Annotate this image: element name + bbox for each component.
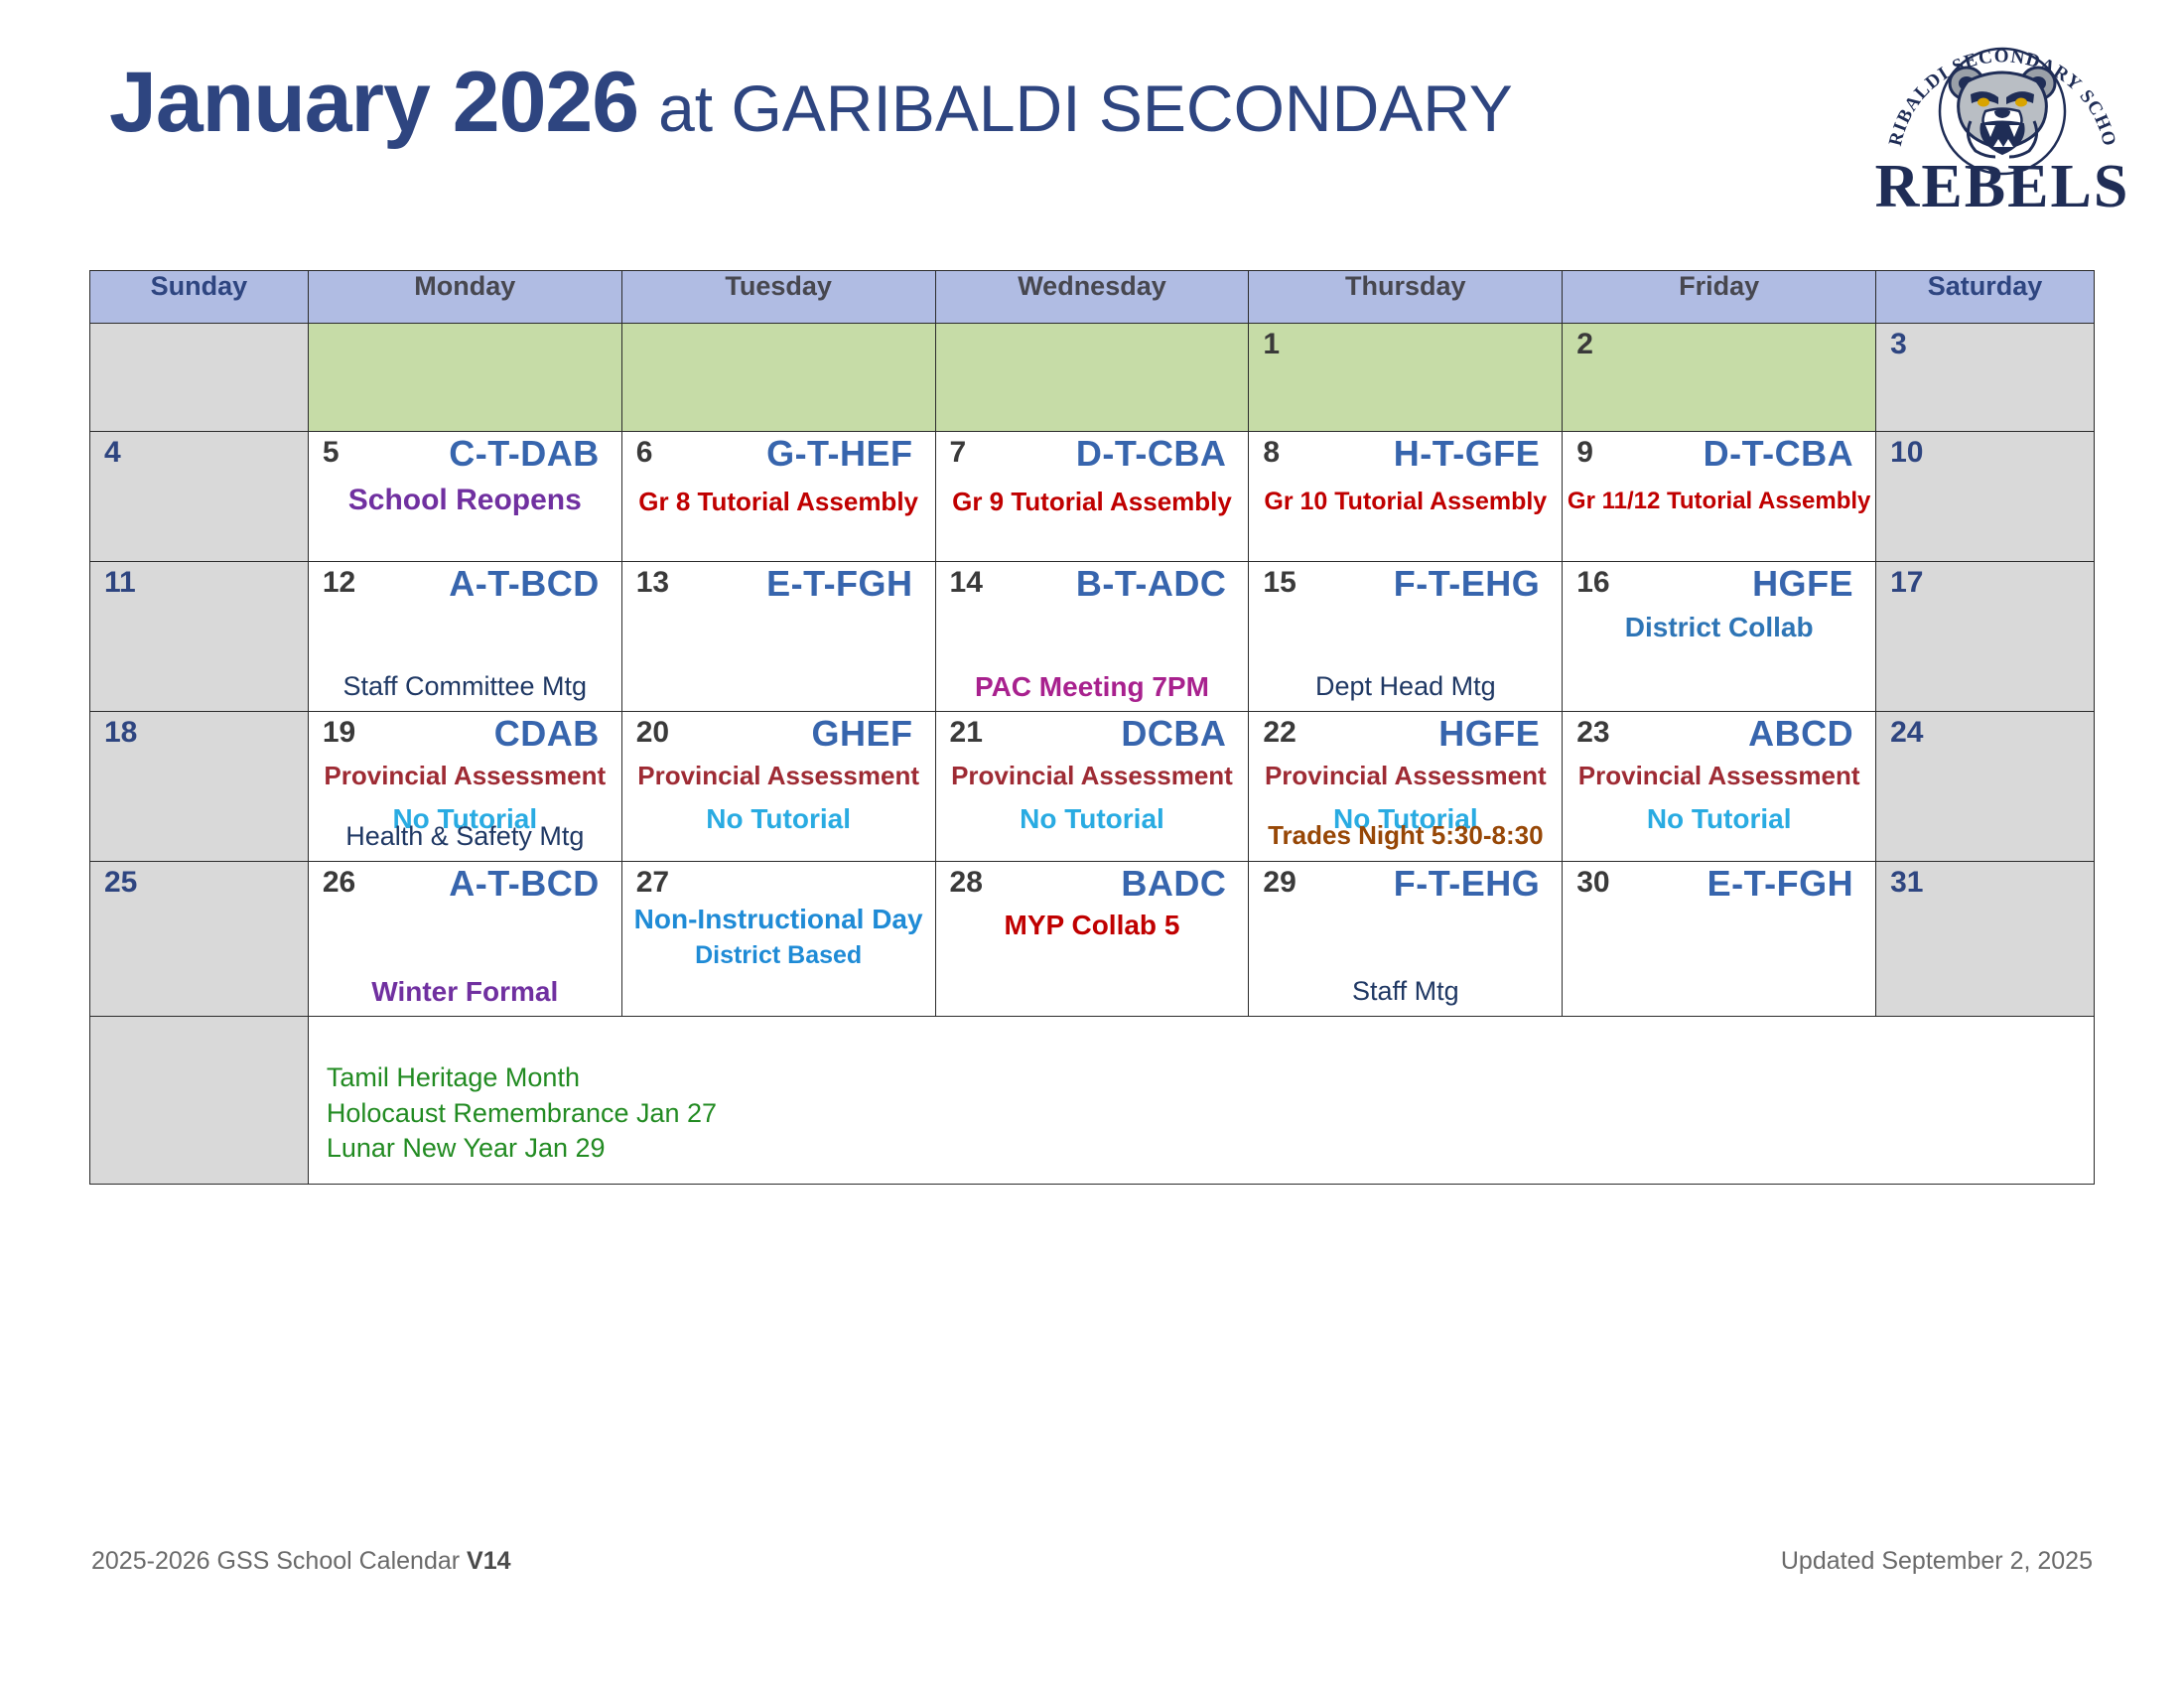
day-cell-content bbox=[90, 324, 308, 431]
calendar-day-20[interactable]: 20GHEFProvincial AssessmentNo Tutorial bbox=[621, 712, 935, 862]
calendar-day-1[interactable]: 1 bbox=[1249, 324, 1563, 432]
day-cell-content: 16HGFEDistrict Collab bbox=[1563, 562, 1875, 711]
rotation-code: DCBA bbox=[1121, 715, 1226, 753]
day-cell-content: 19CDABProvincial AssessmentNo TutorialHe… bbox=[309, 712, 621, 861]
weekday-header-sunday: Sunday bbox=[90, 271, 309, 324]
day-event: No Tutorial bbox=[1567, 803, 1871, 835]
day-cell-content: 7D-T-CBAGr 9 Tutorial Assembly bbox=[936, 432, 1249, 561]
day-number: 10 bbox=[1890, 438, 1923, 468]
rotation-code: F-T-EHG bbox=[1394, 565, 1540, 603]
calendar-day-31[interactable]: 31 bbox=[1876, 862, 2095, 1017]
day-cell-content: 14B-T-ADCPAC Meeting 7PM bbox=[936, 562, 1249, 711]
day-event: Gr 8 Tutorial Assembly bbox=[626, 488, 931, 517]
page-title-school: at GARIBALDI SECONDARY bbox=[658, 75, 1513, 141]
day-number: 30 bbox=[1576, 868, 1609, 898]
day-cell-content: 24 bbox=[1876, 712, 2094, 861]
weekday-header-wednesday: Wednesday bbox=[935, 271, 1249, 324]
day-number: 15 bbox=[1263, 568, 1296, 598]
footer-calendar-version: 2025-2026 GSS School Calendar V14 bbox=[91, 1547, 511, 1576]
calendar-day-17[interactable]: 17 bbox=[1876, 562, 2095, 712]
day-cell-content: 12A-T-BCDStaff Committee Mtg bbox=[309, 562, 621, 711]
day-number: 28 bbox=[950, 868, 983, 898]
rotation-code: ABCD bbox=[1748, 715, 1853, 753]
calendar-day-19[interactable]: 19CDABProvincial AssessmentNo TutorialHe… bbox=[308, 712, 621, 862]
day-event: Non-Instructional Day bbox=[626, 904, 931, 935]
weekday-header-thursday: Thursday bbox=[1249, 271, 1563, 324]
day-cell-content: 1 bbox=[1249, 324, 1562, 431]
day-number: 5 bbox=[323, 438, 340, 468]
day-event: Winter Formal bbox=[313, 976, 617, 1008]
calendar-day-16[interactable]: 16HGFEDistrict Collab bbox=[1563, 562, 1876, 712]
page-title-month: January 2026 bbox=[109, 60, 638, 145]
weekday-header-friday: Friday bbox=[1563, 271, 1876, 324]
calendar-body: 12345C-T-DABSchool Reopens6G-T-HEFGr 8 T… bbox=[90, 324, 2095, 1185]
page-header: January 2026 at GARIBALDI SECONDARY bbox=[109, 60, 1856, 189]
weekday-header-monday: Monday bbox=[308, 271, 621, 324]
day-cell-content: 31 bbox=[1876, 862, 2094, 1016]
calendar-day-6[interactable]: 6G-T-HEFGr 8 Tutorial Assembly bbox=[621, 432, 935, 562]
rotation-code: GHEF bbox=[812, 715, 913, 753]
day-cell-content: 21DCBAProvincial AssessmentNo Tutorial bbox=[936, 712, 1249, 861]
rotation-code: BADC bbox=[1121, 865, 1226, 903]
day-cell-content: 10 bbox=[1876, 432, 2094, 561]
day-cell-content: 23ABCDProvincial AssessmentNo Tutorial bbox=[1563, 712, 1875, 861]
calendar-day-27[interactable]: 27Non-Instructional DayDistrict Based bbox=[621, 862, 935, 1017]
day-number: 21 bbox=[950, 718, 983, 748]
weekday-header-saturday: Saturday bbox=[1876, 271, 2095, 324]
calendar-week-row: 1112A-T-BCDStaff Committee Mtg13E-T-FGH1… bbox=[90, 562, 2095, 712]
calendar-day-9[interactable]: 9D-T-CBAGr 11/12 Tutorial Assembly bbox=[1563, 432, 1876, 562]
day-number: 2 bbox=[1576, 330, 1593, 359]
day-cell-content: 29F-T-EHGStaff Mtg bbox=[1249, 862, 1562, 1016]
day-cell-content: 17 bbox=[1876, 562, 2094, 711]
day-cell-content: 2 bbox=[1563, 324, 1875, 431]
calendar-page: January 2026 at GARIBALDI SECONDARY GARI… bbox=[0, 0, 2184, 1688]
school-logo: GARIBALDI SECONDARY SCHOOL bbox=[1868, 12, 2136, 215]
day-number: 16 bbox=[1576, 568, 1609, 598]
calendar-week-row: 2526A-T-BCDWinter Formal27Non-Instructio… bbox=[90, 862, 2095, 1017]
calendar-day-8[interactable]: 8H-T-GFEGr 10 Tutorial Assembly bbox=[1249, 432, 1563, 562]
calendar-day-24[interactable]: 24 bbox=[1876, 712, 2095, 862]
calendar-day-18[interactable]: 18 bbox=[90, 712, 309, 862]
calendar-day-12[interactable]: 12A-T-BCDStaff Committee Mtg bbox=[308, 562, 621, 712]
day-cell-content: 6G-T-HEFGr 8 Tutorial Assembly bbox=[622, 432, 935, 561]
bear-head-icon bbox=[1950, 68, 2055, 157]
day-cell-content bbox=[622, 324, 935, 431]
calendar-day-empty[interactable] bbox=[90, 324, 309, 432]
day-number: 29 bbox=[1263, 868, 1296, 898]
day-cell-content: 8H-T-GFEGr 10 Tutorial Assembly bbox=[1249, 432, 1562, 561]
day-number: 27 bbox=[636, 868, 669, 898]
day-number: 26 bbox=[323, 868, 355, 898]
rotation-code: D-T-CBA bbox=[1076, 435, 1226, 473]
day-number: 7 bbox=[950, 438, 967, 468]
rotation-code: CDAB bbox=[494, 715, 600, 753]
day-cell-content: 15F-T-EHGDept Head Mtg bbox=[1249, 562, 1562, 711]
day-number: 13 bbox=[636, 568, 669, 598]
calendar-day-25[interactable]: 25 bbox=[90, 862, 309, 1017]
day-event: District Based bbox=[626, 941, 931, 970]
calendar-day-29[interactable]: 29F-T-EHGStaff Mtg bbox=[1249, 862, 1563, 1017]
calendar-day-28[interactable]: 28BADCMYP Collab 5 bbox=[935, 862, 1249, 1017]
day-cell-content bbox=[936, 324, 1249, 431]
calendar-week-row: 1819CDABProvincial AssessmentNo Tutorial… bbox=[90, 712, 2095, 862]
day-number: 18 bbox=[104, 718, 137, 748]
day-number: 14 bbox=[950, 568, 983, 598]
rotation-code: E-T-FGH bbox=[1707, 865, 1853, 903]
day-number: 9 bbox=[1576, 438, 1593, 468]
day-event: Provincial Assessment bbox=[313, 762, 617, 791]
day-event: School Reopens bbox=[313, 484, 617, 518]
day-number: 22 bbox=[1263, 718, 1296, 748]
calendar-day-7[interactable]: 7D-T-CBAGr 9 Tutorial Assembly bbox=[935, 432, 1249, 562]
day-cell-content: 22HGFEProvincial AssessmentNo TutorialTr… bbox=[1249, 712, 1562, 861]
calendar-table: Sunday Monday Tuesday Wednesday Thursday… bbox=[89, 270, 2095, 1185]
rotation-code: A-T-BCD bbox=[449, 865, 599, 903]
rotation-code: F-T-EHG bbox=[1394, 865, 1540, 903]
calendar-day-30[interactable]: 30E-T-FGH bbox=[1563, 862, 1876, 1017]
footer-version-number: V14 bbox=[467, 1547, 510, 1575]
footer-calendar-label: 2025-2026 GSS School Calendar bbox=[91, 1547, 467, 1575]
observance-line: Holocaust Remembrance Jan 27 bbox=[327, 1096, 717, 1132]
calendar-day-15[interactable]: 15F-T-EHGDept Head Mtg bbox=[1249, 562, 1563, 712]
calendar-day-2[interactable]: 2 bbox=[1563, 324, 1876, 432]
rotation-code: A-T-BCD bbox=[449, 565, 599, 603]
calendar-day-10[interactable]: 10 bbox=[1876, 432, 2095, 562]
day-cell-content: 28BADCMYP Collab 5 bbox=[936, 862, 1249, 1016]
day-number: 11 bbox=[104, 568, 136, 598]
calendar-week-row: 123 bbox=[90, 324, 2095, 432]
rotation-code: B-T-ADC bbox=[1076, 565, 1226, 603]
rotation-code: HGFE bbox=[1752, 565, 1853, 603]
logo-wordmark: REBELS bbox=[1875, 153, 2130, 215]
weekday-header-row: Sunday Monday Tuesday Wednesday Thursday… bbox=[90, 271, 2095, 324]
rotation-code: C-T-DAB bbox=[449, 435, 599, 473]
day-cell-content: 27Non-Instructional DayDistrict Based bbox=[622, 862, 935, 1016]
calendar-day-empty[interactable] bbox=[621, 324, 935, 432]
calendar-day-empty[interactable] bbox=[308, 324, 621, 432]
day-number: 1 bbox=[1263, 330, 1280, 359]
day-event: No Tutorial bbox=[626, 803, 931, 835]
day-number: 19 bbox=[323, 718, 355, 748]
rotation-code: E-T-FGH bbox=[766, 565, 912, 603]
notes-row-spacer bbox=[90, 1017, 309, 1185]
rotation-code: HGFE bbox=[1438, 715, 1540, 753]
day-number: 17 bbox=[1890, 568, 1923, 598]
day-cell-content: 13E-T-FGH bbox=[622, 562, 935, 711]
monthly-observances-cell: Tamil Heritage MonthHolocaust Remembranc… bbox=[308, 1017, 2094, 1185]
day-event: PAC Meeting 7PM bbox=[940, 671, 1245, 703]
calendar-day-22[interactable]: 22HGFEProvincial AssessmentNo TutorialTr… bbox=[1249, 712, 1563, 862]
observance-line: Lunar New Year Jan 29 bbox=[327, 1131, 717, 1167]
day-event: District Collab bbox=[1567, 612, 1871, 643]
day-event: Trades Night 5:30-8:30 bbox=[1253, 821, 1558, 851]
day-event: Provincial Assessment bbox=[626, 762, 931, 791]
day-event: Staff Committee Mtg bbox=[313, 671, 617, 702]
calendar-day-23[interactable]: 23ABCDProvincial AssessmentNo Tutorial bbox=[1563, 712, 1876, 862]
day-number: 25 bbox=[104, 868, 137, 898]
day-event: No Tutorial bbox=[940, 803, 1245, 835]
day-cell-content: 26A-T-BCDWinter Formal bbox=[309, 862, 621, 1016]
day-number: 12 bbox=[323, 568, 355, 598]
day-cell-content: 3 bbox=[1876, 324, 2094, 431]
day-cell-content: 25 bbox=[90, 862, 308, 1016]
day-cell-content: 9D-T-CBAGr 11/12 Tutorial Assembly bbox=[1563, 432, 1875, 561]
footer-updated-date: Updated September 2, 2025 bbox=[1781, 1547, 2093, 1576]
day-number: 23 bbox=[1576, 718, 1609, 748]
day-number: 31 bbox=[1890, 868, 1923, 898]
rotation-code: G-T-HEF bbox=[766, 435, 912, 473]
day-number: 20 bbox=[636, 718, 669, 748]
day-cell-content: 20GHEFProvincial AssessmentNo Tutorial bbox=[622, 712, 935, 861]
calendar-day-14[interactable]: 14B-T-ADCPAC Meeting 7PM bbox=[935, 562, 1249, 712]
calendar-day-26[interactable]: 26A-T-BCDWinter Formal bbox=[308, 862, 621, 1017]
day-cell-content: 11 bbox=[90, 562, 308, 711]
calendar-day-4[interactable]: 4 bbox=[90, 432, 309, 562]
day-number: 4 bbox=[104, 438, 121, 468]
rotation-code: H-T-GFE bbox=[1394, 435, 1540, 473]
weekday-header-tuesday: Tuesday bbox=[621, 271, 935, 324]
monthly-observances-list: Tamil Heritage MonthHolocaust Remembranc… bbox=[327, 1060, 717, 1167]
observance-line: Tamil Heritage Month bbox=[327, 1060, 717, 1096]
calendar-day-empty[interactable] bbox=[935, 324, 1249, 432]
day-event: Provincial Assessment bbox=[1567, 762, 1871, 791]
calendar-notes-row: Tamil Heritage MonthHolocaust Remembranc… bbox=[90, 1017, 2095, 1185]
day-event: Gr 11/12 Tutorial Assembly bbox=[1567, 488, 1871, 515]
calendar-day-3[interactable]: 3 bbox=[1876, 324, 2095, 432]
calendar-week-row: 45C-T-DABSchool Reopens6G-T-HEFGr 8 Tuto… bbox=[90, 432, 2095, 562]
day-event: Staff Mtg bbox=[1253, 976, 1558, 1007]
calendar-day-11[interactable]: 11 bbox=[90, 562, 309, 712]
rotation-code: D-T-CBA bbox=[1704, 435, 1853, 473]
day-cell-content: 4 bbox=[90, 432, 308, 561]
day-cell-content: 18 bbox=[90, 712, 308, 861]
day-event: Gr 10 Tutorial Assembly bbox=[1253, 488, 1558, 516]
day-event: Gr 9 Tutorial Assembly bbox=[940, 488, 1245, 517]
day-event: Health & Safety Mtg bbox=[313, 821, 617, 852]
day-number: 3 bbox=[1890, 330, 1907, 359]
day-number: 24 bbox=[1890, 718, 1923, 748]
calendar-day-5[interactable]: 5C-T-DABSchool Reopens bbox=[308, 432, 621, 562]
day-event: Dept Head Mtg bbox=[1253, 671, 1558, 702]
day-event: Provincial Assessment bbox=[940, 762, 1245, 791]
day-event: Provincial Assessment bbox=[1253, 762, 1558, 791]
day-event: MYP Collab 5 bbox=[940, 910, 1245, 941]
calendar-day-13[interactable]: 13E-T-FGH bbox=[621, 562, 935, 712]
day-number: 6 bbox=[636, 438, 653, 468]
day-cell-content bbox=[309, 324, 621, 431]
day-cell-content: 5C-T-DABSchool Reopens bbox=[309, 432, 621, 561]
calendar-day-21[interactable]: 21DCBAProvincial AssessmentNo Tutorial bbox=[935, 712, 1249, 862]
day-cell-content: 30E-T-FGH bbox=[1563, 862, 1875, 1016]
day-number: 8 bbox=[1263, 438, 1280, 468]
